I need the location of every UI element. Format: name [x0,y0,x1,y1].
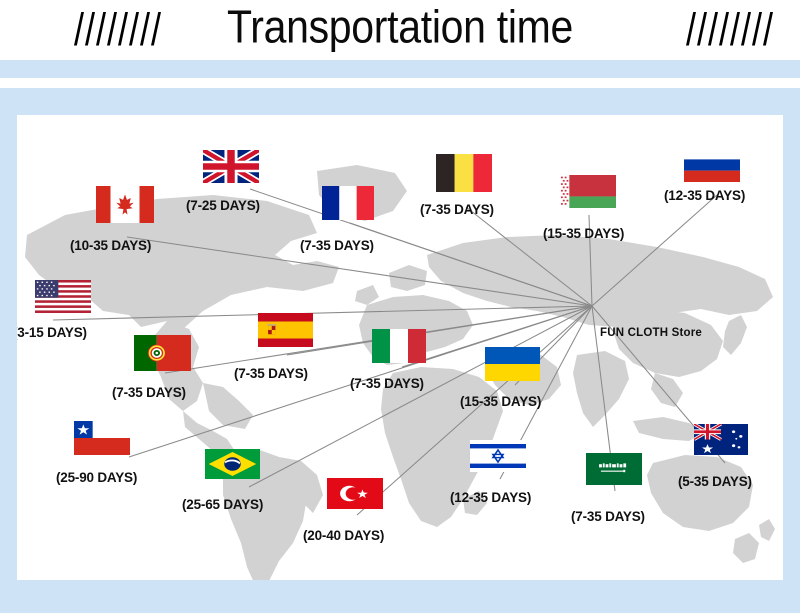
map-frame: FUN CLOTH Store (7-25 DAYS) (10-35 DAYS)… [0,88,800,613]
right-slash-decoration: //////// [686,4,774,57]
delivery-time-label-fr: (7-35 DAYS) [300,238,374,253]
delivery-time-label-ua: (15-35 DAYS) [460,394,541,409]
transportation-time-banner: //////// Transportation time //////// [0,0,800,613]
flag-icon-ca [96,186,154,223]
flag-icon-be [436,154,492,192]
delivery-time-label-il: (12-35 DAYS) [450,490,531,505]
flag-icon-au [694,424,748,455]
flag-icon-br [205,449,260,479]
flag-icon-gb [203,150,259,183]
delivery-time-label-cl: (25-90 DAYS) [56,470,137,485]
delivery-time-label-pt: (7-35 DAYS) [112,385,186,400]
flag-icon-it [372,329,426,363]
delivery-time-label-us: (3-15 DAYS) [17,325,87,340]
flag-icon-es [258,313,313,347]
hub-store-label: FUN CLOTH Store [600,327,702,339]
delivery-time-label-ru: (12-35 DAYS) [664,188,745,203]
header: //////// Transportation time //////// [0,0,800,60]
flag-icon-ua [485,347,540,381]
delivery-time-label-ca: (10-35 DAYS) [70,238,151,253]
delivery-time-label-es: (7-35 DAYS) [234,366,308,381]
delivery-time-label-be: (7-35 DAYS) [420,202,494,217]
flag-icon-by [560,175,616,208]
delivery-time-label-it: (7-35 DAYS) [350,376,424,391]
delivery-time-label-au: (5-35 DAYS) [678,474,752,489]
flag-icon-fr [322,186,374,220]
delivery-time-label-by: (15-35 DAYS) [543,226,624,241]
white-separator-band [0,78,800,88]
flag-icon-cl [74,421,130,455]
delivery-time-label-tr: (20-40 DAYS) [303,528,384,543]
flag-icon-ru [684,148,740,182]
flag-icon-sa [586,453,642,485]
page-title: Transportation time [0,1,800,54]
flag-icon-pt [134,335,191,371]
flag-icon-tr [327,478,383,509]
top-blue-band [0,60,800,78]
world-map-panel: FUN CLOTH Store (7-25 DAYS) (10-35 DAYS)… [17,115,783,580]
delivery-time-label-gb: (7-25 DAYS) [186,198,260,213]
flag-icon-il [470,440,526,472]
flag-icon-us [35,280,91,313]
delivery-time-label-sa: (7-35 DAYS) [571,509,645,524]
delivery-time-label-br: (25-65 DAYS) [182,497,263,512]
